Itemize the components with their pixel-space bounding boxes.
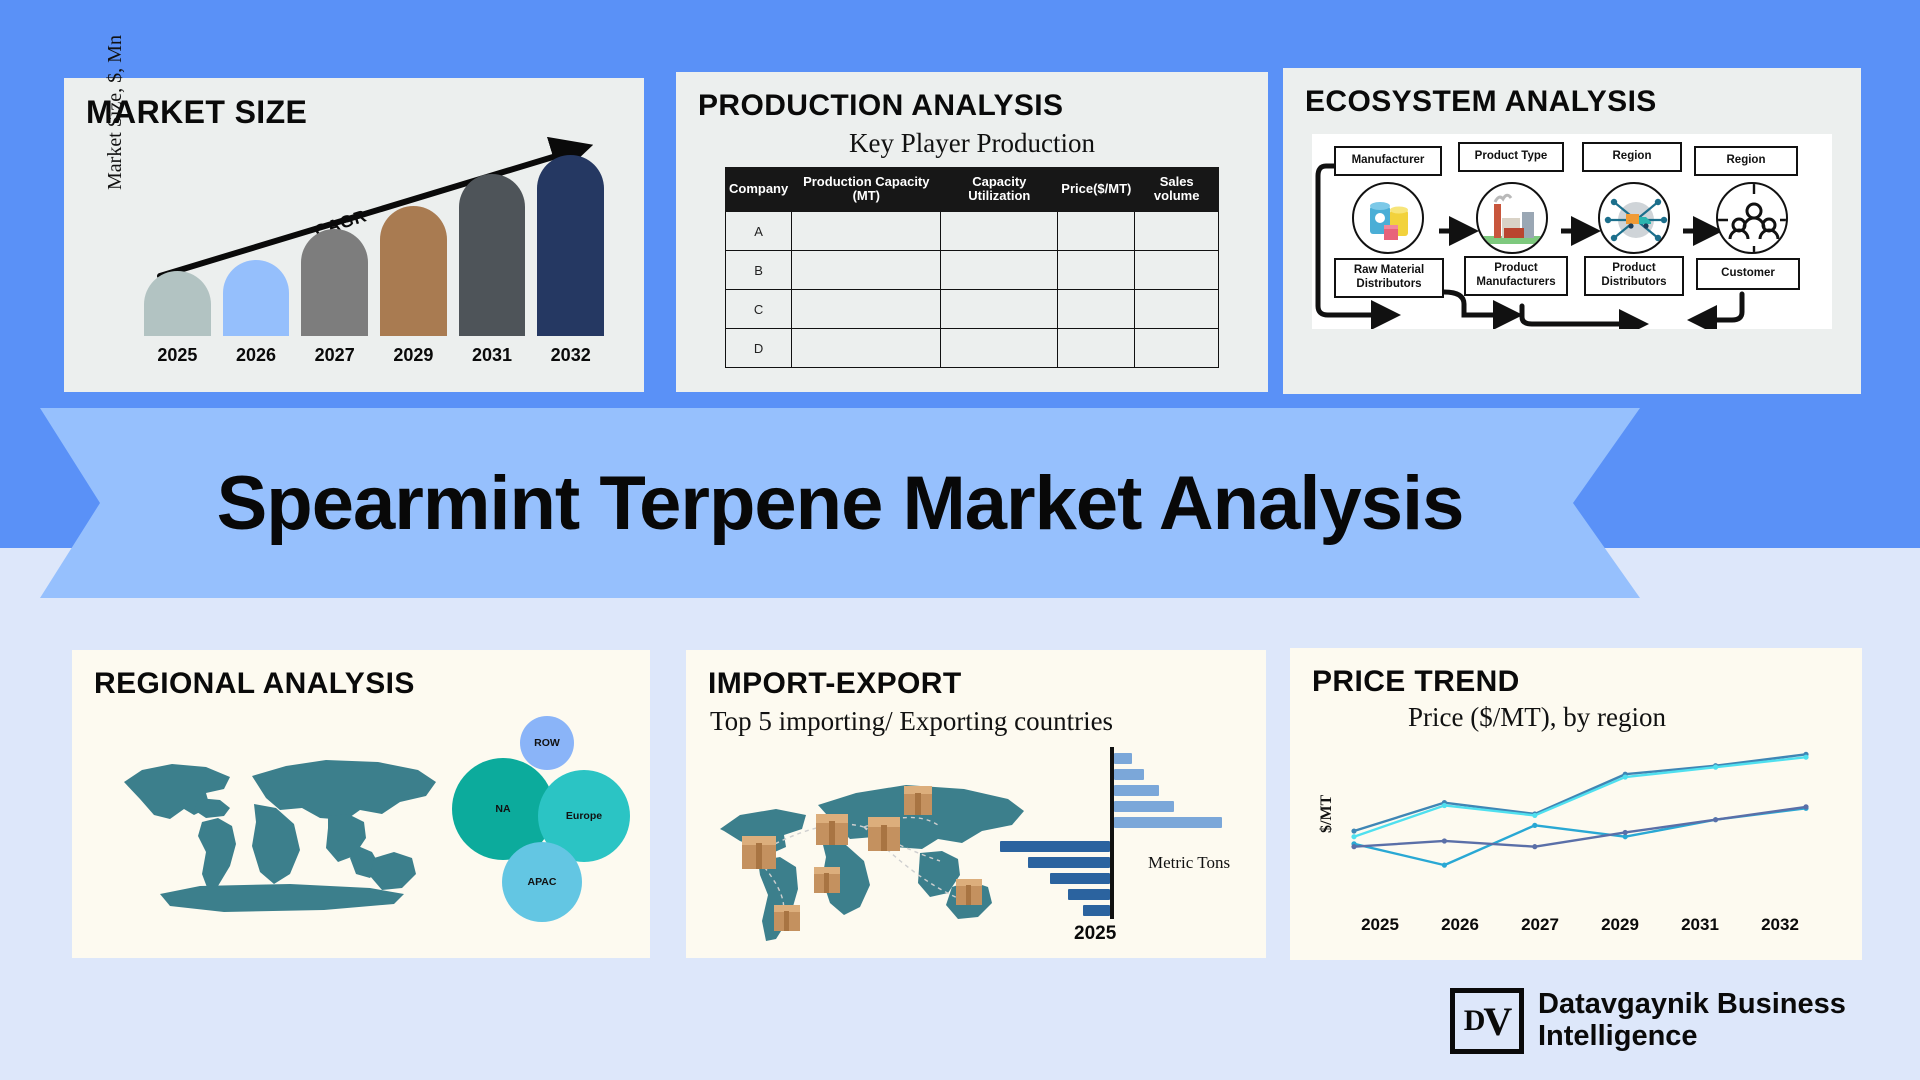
market-size-bar [380,146,447,336]
panel-production-analysis: PRODUCTION ANALYSIS Key Player Productio… [676,72,1268,392]
data-point [1713,764,1718,769]
factory-icon [1476,182,1548,254]
infographic-page: MARKET SIZE Market Size, $, Mn CAGR 2025… [0,0,1920,1080]
panel-market-size: MARKET SIZE Market Size, $, Mn CAGR 2025… [64,78,644,392]
market-size-x-label: 2026 [223,345,290,366]
price-trend-title: PRICE TREND [1312,666,1840,698]
market-size-bar [301,146,368,336]
table-cell [941,212,1058,251]
price-trend-x-labels: 202520262027202920312032 [1340,915,1820,935]
metric-tons-label: Metric Tons [1148,853,1230,873]
panel-ecosystem-analysis: ECOSYSTEM ANALYSIS [1283,68,1861,394]
table-row: B [726,251,1219,290]
table-cell [792,212,941,251]
key-player-production-table: CompanyProduction Capacity (MT)Capacity … [725,167,1219,369]
bar-2027 [301,229,368,335]
eco-bottom-label-1: Product Manufacturers [1464,256,1568,296]
table-row: C [726,290,1219,329]
regional-analysis-title: REGIONAL ANALYSIS [94,668,628,700]
table-column-header: Price($/MT) [1058,167,1135,212]
table-cell: C [726,290,792,329]
data-point [1532,812,1537,817]
eco-bottom-label-0: Raw Material Distributors [1334,258,1444,298]
bar-2031 [459,174,526,336]
table-cell: A [726,212,792,251]
logo-letter-d: D [1464,1004,1484,1038]
table-cell [1135,329,1219,368]
eco-bottom-label-3: Customer [1696,258,1800,290]
tornado-bar-export [1028,857,1111,868]
tornado-bar-export [1068,889,1111,900]
price-trend-x-label: 2031 [1660,915,1740,935]
dv-monogram-icon: DV [1450,988,1524,1054]
data-point [1351,834,1356,839]
eco-top-label-2: Region [1582,142,1682,172]
import-export-body: Metric Tons 2025 [708,741,1244,963]
tornado-bar-import [1114,769,1144,780]
ecosystem-diagram: Manufacturer Product Type Region Region [1312,134,1832,329]
table-cell [1058,329,1135,368]
bar-2029 [380,206,447,335]
bubble-row: ROW [520,716,574,770]
import-export-tornado-chart: Metric Tons 2025 [1024,747,1234,947]
data-point [1623,829,1628,834]
table-cell [941,290,1058,329]
tornado-bar-export [1050,873,1110,884]
tornado-bar-import [1114,785,1159,796]
table-cell [792,329,941,368]
price-trend-x-label: 2032 [1740,915,1820,935]
tornado-year-label: 2025 [1074,923,1116,945]
table-header-row: CompanyProduction Capacity (MT)Capacity … [726,167,1219,212]
eco-top-label-1: Product Type [1458,142,1564,172]
page-title: Spearmint Terpene Market Analysis [217,460,1464,547]
table-body: ABCD [726,212,1219,368]
table-column-header: Company [726,167,792,212]
data-point [1713,817,1718,822]
distribution-network-icon [1598,182,1670,254]
production-analysis-title: PRODUCTION ANALYSIS [698,90,1246,122]
market-size-x-labels: 202520262027202920312032 [144,345,604,366]
table-cell: B [726,251,792,290]
price-trend-subtitle: Price ($/MT), by region [1372,702,1702,733]
ecosystem-analysis-title: ECOSYSTEM ANALYSIS [1305,86,1839,118]
banner-ribbon: Spearmint Terpene Market Analysis [40,408,1640,598]
customers-icon [1716,182,1788,254]
production-analysis-subtitle: Key Player Production [698,128,1246,159]
market-size-bar [537,146,604,336]
table-column-header: Sales volume [1135,167,1219,212]
regional-analysis-body: NAEuropeAPACROW [94,706,628,942]
world-map-icon [102,724,442,924]
import-export-title: IMPORT-EXPORT [708,668,1244,700]
market-size-x-label: 2025 [144,345,211,366]
table-cell [1135,212,1219,251]
price-trend-line-chart [1340,735,1820,895]
bar-2032 [537,155,604,336]
market-size-bar [459,146,526,336]
data-point [1532,844,1537,849]
eco-bottom-label-2: Product Distributors [1584,256,1684,296]
market-size-chart: Market Size, $, Mn CAGR 2025202620272029… [86,136,622,368]
table-column-header: Production Capacity (MT) [792,167,941,212]
tornado-bar-export [1000,841,1110,852]
table-cell [792,251,941,290]
eco-top-label-0: Manufacturer [1334,146,1442,176]
tornado-bar-import [1114,753,1132,764]
table-column-header: Capacity Utilization [941,167,1058,212]
price-trend-x-label: 2027 [1500,915,1580,935]
bubble-apac: APAC [502,842,582,922]
market-size-bar [223,146,290,336]
panel-price-trend: PRICE TREND Price ($/MT), by region $/MT… [1290,648,1862,960]
panel-import-export: IMPORT-EXPORT Top 5 importing/ Exporting… [686,650,1266,958]
data-point [1442,862,1447,867]
table-cell [1135,251,1219,290]
eco-top-label-3: Region [1694,146,1798,176]
table-cell: D [726,329,792,368]
data-point [1351,828,1356,833]
data-point [1442,802,1447,807]
price-trend-x-label: 2029 [1580,915,1660,935]
market-size-bar [144,146,211,336]
panel-regional-analysis: REGIONAL ANALYSIS NAEuropeAPACROW [72,650,650,958]
bar-2025 [144,271,211,336]
table-row: D [726,329,1219,368]
data-point [1351,844,1356,849]
table-row: A [726,212,1219,251]
market-size-x-label: 2032 [537,345,604,366]
price-trend-x-label: 2026 [1420,915,1500,935]
line-series-2 [1354,757,1806,837]
brand-name: Datavgaynik Business Intelligence [1538,989,1868,1053]
tornado-bar-export [1083,905,1111,916]
market-size-title: MARKET SIZE [86,96,622,130]
trade-route-map-icon [714,769,1024,949]
market-size-x-label: 2029 [380,345,447,366]
table-cell [792,290,941,329]
regional-bubble-chart: NAEuropeAPACROW [452,716,652,926]
table-cell [1058,212,1135,251]
table-cell [1058,251,1135,290]
import-export-subtitle: Top 5 importing/ Exporting countries [710,706,1244,737]
market-size-x-label: 2027 [301,345,368,366]
table-cell [1058,290,1135,329]
price-trend-y-axis-label: $/MT [1318,794,1336,832]
brand-logo: DV Datavgaynik Business Intelligence [1450,988,1868,1054]
table-cell [941,251,1058,290]
logo-letter-v: V [1483,998,1510,1045]
data-point [1803,804,1808,809]
tornado-bar-import [1114,801,1174,812]
data-point [1442,838,1447,843]
price-trend-x-label: 2025 [1340,915,1420,935]
tornado-bar-import [1114,817,1222,828]
price-trend-body: $/MT 202520262027202920312032 [1312,735,1840,941]
data-point [1623,774,1628,779]
market-size-x-label: 2031 [459,345,526,366]
table-cell [941,329,1058,368]
table-cell [1135,290,1219,329]
data-point [1803,754,1808,759]
market-size-bars [144,146,604,336]
bar-2026 [223,260,290,336]
data-point [1532,822,1537,827]
market-size-y-axis-label: Market Size, $, Mn [104,35,127,190]
drums-icon [1352,182,1424,254]
